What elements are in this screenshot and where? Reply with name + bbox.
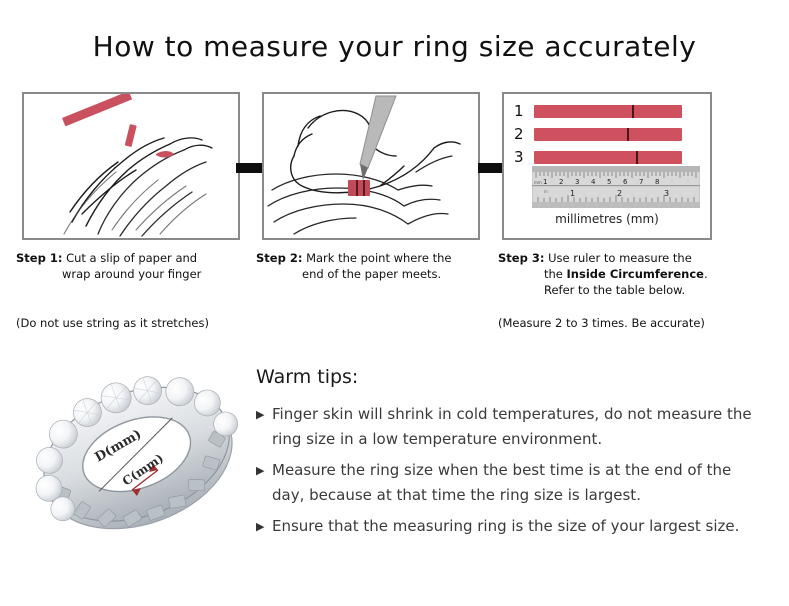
strip-bar-3 — [534, 151, 682, 164]
pencil-icon — [360, 96, 396, 180]
tip-item-1: ▶ Finger skin will shrink in cold temper… — [256, 402, 766, 452]
strip-row-2: 2 — [514, 125, 682, 143]
step-3-line2-end: . — [704, 267, 708, 281]
svg-text:1: 1 — [570, 189, 575, 198]
ring-diagram-icon: D(mm) C(mm) — [28, 358, 248, 558]
strip-number-1: 1 — [514, 102, 534, 120]
strip-mark-2 — [627, 128, 629, 141]
strip-bar-1 — [534, 105, 682, 118]
step-1-line2: wrap around your finger — [16, 266, 266, 282]
step-2-label: Step 2: — [256, 251, 302, 265]
svg-text:3: 3 — [575, 178, 579, 186]
step-3-line2-wrap: the Inside Circumference. — [498, 266, 748, 282]
tip-text-3: Ensure that the measuring ring is the si… — [272, 514, 766, 539]
tip-item-2: ▶ Measure the ring size when the best ti… — [256, 458, 766, 508]
svg-text:2: 2 — [617, 189, 622, 198]
tip-text-2: Measure the ring size when the best time… — [272, 458, 766, 508]
svg-text:mm: mm — [534, 180, 542, 185]
warm-tips-list: ▶ Finger skin will shrink in cold temper… — [256, 402, 766, 545]
svg-text:1: 1 — [543, 178, 547, 186]
step-2-line1: Mark the point where the — [302, 251, 451, 265]
step-3-line3: Refer to the table below. — [498, 282, 748, 298]
step-1-illustration-panel — [22, 92, 240, 240]
svg-text:8: 8 — [655, 178, 659, 186]
strip-bar-2 — [534, 128, 682, 141]
step-3-label: Step 3: — [498, 251, 544, 265]
svg-text:4: 4 — [591, 178, 596, 186]
bullet-triangle-icon-2: ▶ — [256, 458, 272, 483]
tip-text-1: Finger skin will shrink in cold temperat… — [272, 402, 766, 452]
measured-strips-group: 1 2 3 — [514, 102, 682, 171]
page-title: How to measure your ring size accurately — [0, 30, 789, 63]
step-3-illustration-panel: 1 2 3 — [502, 92, 712, 240]
svg-text:2: 2 — [559, 178, 563, 186]
hand-marking-with-pencil-icon — [264, 94, 478, 238]
ruler-unit-label: millimetres (mm) — [504, 212, 710, 226]
strip-number-2: 2 — [514, 125, 534, 143]
paper-strip-marked — [348, 180, 370, 196]
svg-text:3: 3 — [664, 189, 669, 198]
strip-mark-1 — [632, 105, 634, 118]
step-3-caption: Step 3: Use ruler to measure the the Ins… — [498, 250, 748, 298]
step-1-note: (Do not use string as it stretches) — [16, 316, 209, 330]
step-2-illustration-panel — [262, 92, 480, 240]
step-1-line1: Cut a slip of paper and — [62, 251, 197, 265]
tip-item-3: ▶ Ensure that the measuring ring is the … — [256, 514, 766, 539]
paper-strip-loose — [62, 94, 132, 126]
bullet-triangle-icon-1: ▶ — [256, 402, 272, 427]
strip-mark-3 — [636, 151, 638, 164]
svg-text:7: 7 — [639, 178, 643, 186]
svg-text:5: 5 — [607, 178, 611, 186]
step-1-caption: Step 1: Cut a slip of paper and wrap aro… — [16, 250, 266, 282]
paper-strip-wrapped — [125, 124, 137, 147]
step-2-caption: Step 2: Mark the point where the end of … — [256, 250, 506, 282]
step-1-label: Step 1: — [16, 251, 62, 265]
hand-with-paper-strip-icon — [24, 94, 238, 238]
strip-row-3: 3 — [514, 148, 682, 166]
warm-tips-heading: Warm tips: — [256, 366, 358, 388]
strip-number-3: 3 — [514, 148, 534, 166]
svg-text:6: 6 — [623, 178, 628, 186]
step-3-note: (Measure 2 to 3 times. Be accurate) — [498, 316, 705, 330]
step-3-line1: Use ruler to measure the — [544, 251, 691, 265]
svg-text:in: in — [544, 189, 548, 194]
strip-row-1: 1 — [514, 102, 682, 120]
bullet-triangle-icon-3: ▶ — [256, 514, 272, 539]
step-3-line2: the — [544, 267, 567, 281]
step-2-line2: end of the paper meets. — [256, 266, 506, 282]
ruler-icon: 12 34 56 78 mm 123 in — [532, 166, 700, 208]
step-3-line2-bold: Inside Circumference — [567, 267, 704, 281]
